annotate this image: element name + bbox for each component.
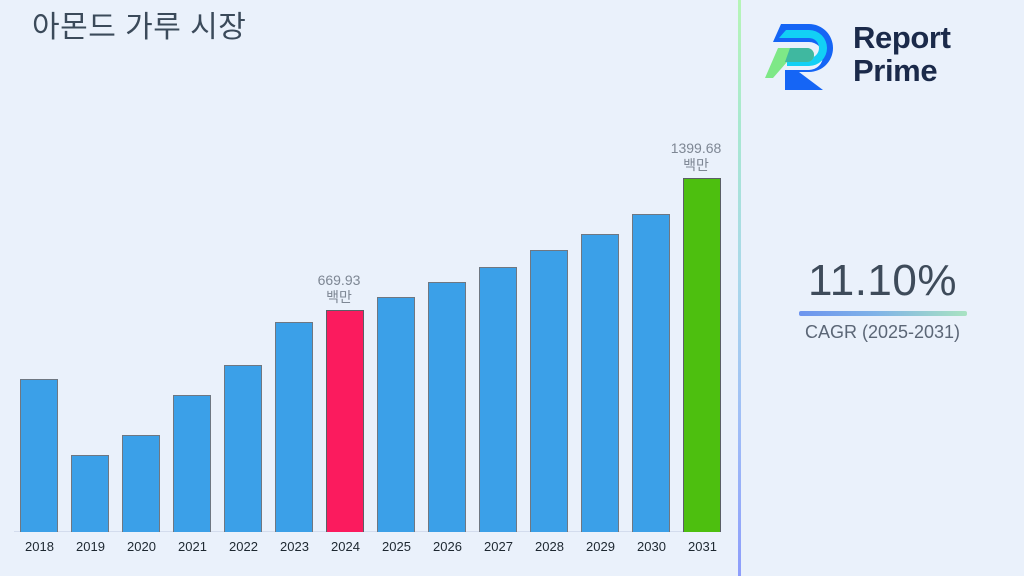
- x-tick-2022: 2022: [218, 536, 269, 558]
- bar-2026[interactable]: [428, 282, 466, 532]
- report-prime-logo-icon: [765, 18, 843, 90]
- x-tick-2027: 2027: [473, 536, 524, 558]
- chart-plot-area: 669.93백만1399.68백만: [0, 110, 738, 532]
- bar-2021[interactable]: [173, 395, 211, 532]
- chart-panel: 아몬드 가루 시장 669.93백만1399.68백만 201820192020…: [0, 0, 738, 576]
- x-tick-2018: 2018: [14, 536, 65, 558]
- bar-2028[interactable]: [530, 250, 568, 532]
- bar-slot: [575, 110, 626, 532]
- x-tick-2023: 2023: [269, 536, 320, 558]
- brand-wordmark-line1: Report: [853, 21, 951, 54]
- brand-logo: Report Prime: [765, 12, 1013, 96]
- summary-panel: Report Prime 11.10% CAGR (2025-2031): [741, 0, 1024, 576]
- bar-slot: [269, 110, 320, 532]
- bar-slot: [167, 110, 218, 532]
- cagr-divider-rule: [799, 311, 967, 316]
- bar-slot: [524, 110, 575, 532]
- bar-2031[interactable]: [683, 178, 721, 532]
- bar-2022[interactable]: [224, 365, 262, 532]
- brand-wordmark-line2: Prime: [853, 54, 951, 87]
- bar-chart: 669.93백만1399.68백만 2018201920202021202220…: [0, 110, 738, 576]
- cagr-block: 11.10% CAGR (2025-2031): [741, 255, 1024, 344]
- bar-2029[interactable]: [581, 234, 619, 532]
- x-tick-2028: 2028: [524, 536, 575, 558]
- x-tick-2026: 2026: [422, 536, 473, 558]
- x-tick-2020: 2020: [116, 536, 167, 558]
- x-tick-2021: 2021: [167, 536, 218, 558]
- x-tick-2025: 2025: [371, 536, 422, 558]
- bar-slot: [14, 110, 65, 532]
- bar-value-unit: 백만: [655, 157, 737, 174]
- bar-slot: 669.93백만: [320, 110, 371, 532]
- cagr-caption: CAGR (2025-2031): [741, 320, 1024, 344]
- bar-value-label-2024: 669.93백만: [298, 272, 380, 306]
- x-tick-2031: 2031: [677, 536, 728, 558]
- bar-2019[interactable]: [71, 455, 109, 532]
- bar-2018[interactable]: [20, 379, 58, 532]
- bar-slot: 1399.68백만: [677, 110, 728, 532]
- x-axis-tick-labels: 2018201920202021202220232024202520262027…: [0, 536, 738, 566]
- bar-slot: [422, 110, 473, 532]
- bar-2025[interactable]: [377, 297, 415, 532]
- x-tick-2019: 2019: [65, 536, 116, 558]
- cagr-value: 11.10%: [741, 255, 1024, 307]
- bar-slot: [473, 110, 524, 532]
- bar-value-label-2031: 1399.68백만: [655, 140, 737, 174]
- brand-wordmark: Report Prime: [853, 21, 951, 87]
- bar-slot: [218, 110, 269, 532]
- bar-value-unit: 백만: [298, 289, 380, 306]
- bar-2027[interactable]: [479, 267, 517, 532]
- bar-2023[interactable]: [275, 322, 313, 532]
- screenshot-canvas: 아몬드 가루 시장 669.93백만1399.68백만 201820192020…: [0, 0, 1024, 576]
- bar-slot: [116, 110, 167, 532]
- x-tick-2029: 2029: [575, 536, 626, 558]
- bar-slot: [65, 110, 116, 532]
- bar-slot: [371, 110, 422, 532]
- x-tick-2024: 2024: [320, 536, 371, 558]
- x-tick-2030: 2030: [626, 536, 677, 558]
- bar-2030[interactable]: [632, 214, 670, 532]
- page-title: 아몬드 가루 시장: [32, 8, 246, 48]
- bar-2024[interactable]: [326, 310, 364, 532]
- bar-value-number: 669.93: [298, 272, 380, 289]
- bar-2020[interactable]: [122, 435, 160, 532]
- bar-value-number: 1399.68: [655, 140, 737, 157]
